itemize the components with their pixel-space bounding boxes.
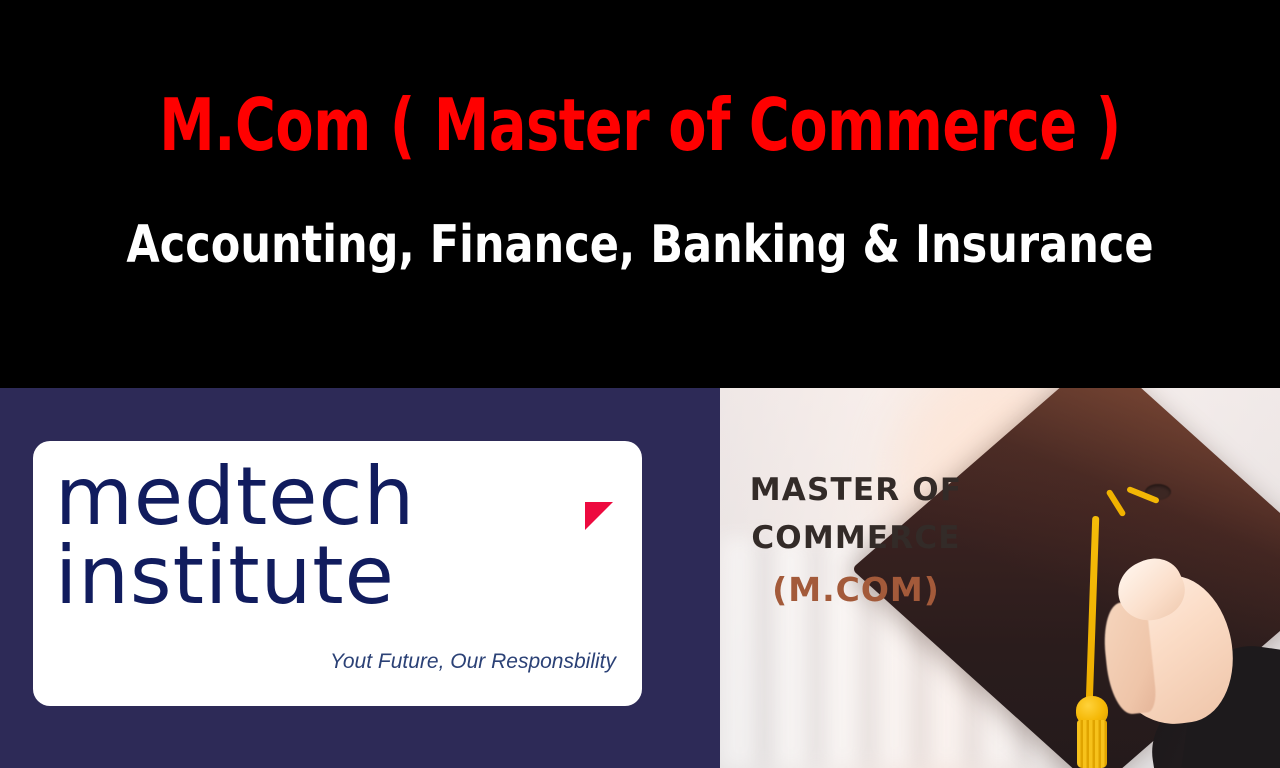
photo-headline: MASTER OF COMMERCE (M.COM): [734, 466, 978, 618]
photo-headline-line-1: MASTER OF: [734, 466, 978, 514]
logo-card: medtech institute Yout Future, Our Respo…: [33, 441, 642, 706]
logo-tagline: Yout Future, Our Responsbility: [33, 649, 616, 675]
photo-headline-line-2: COMMERCE: [734, 514, 978, 562]
logo-lockup: medtech institute Yout Future, Our Respo…: [33, 441, 642, 706]
poster-canvas: M.Com ( Master of Commerce ) Accounting,…: [0, 0, 1280, 768]
lower-section: medtech institute Yout Future, Our Respo…: [0, 388, 1280, 768]
page-title: M.Com ( Master of Commerce ): [90, 88, 1191, 162]
page-subtitle: Accounting, Finance, Banking & Insurance: [51, 216, 1229, 274]
brand-panel: medtech institute Yout Future, Our Respo…: [0, 388, 720, 768]
logo-wordmark-secondary: institute: [55, 533, 395, 619]
red-triangle-icon: [585, 502, 613, 530]
photo-panel: MASTER OF COMMERCE (M.COM): [720, 388, 1280, 768]
logo-wordmark-primary: medtech: [55, 454, 415, 540]
tassel-fringe-icon: [1077, 720, 1107, 768]
photo-headline-line-3: (M.COM): [734, 562, 978, 618]
header-banner: M.Com ( Master of Commerce ) Accounting,…: [0, 0, 1280, 388]
